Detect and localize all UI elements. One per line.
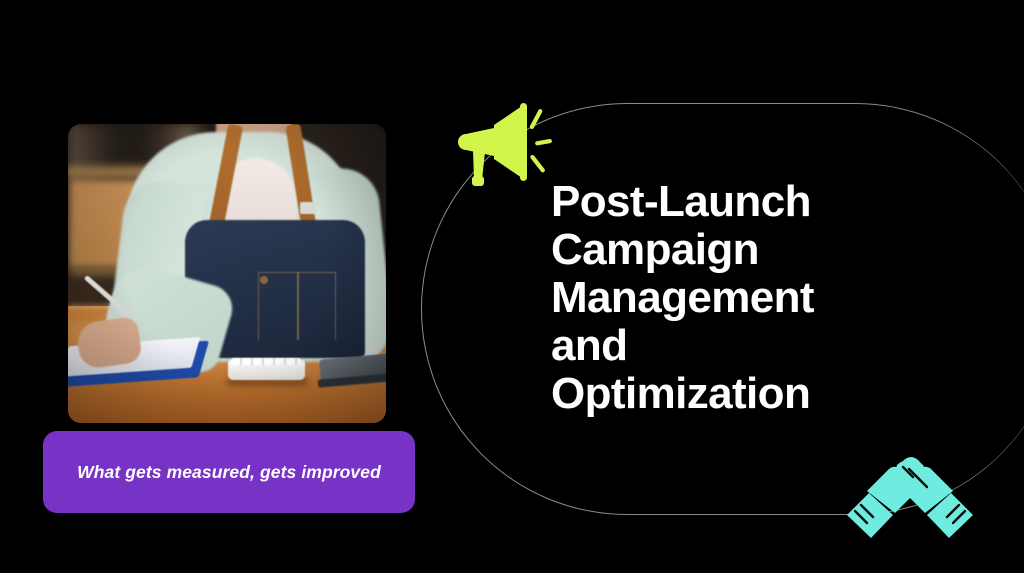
title-line-4: and xyxy=(551,322,951,370)
photo-card xyxy=(68,124,386,423)
photo-vignette xyxy=(68,124,386,423)
title-line-5: Optimization xyxy=(551,370,951,418)
slide-canvas: What gets measured, gets improved Post-L… xyxy=(0,0,1024,573)
title-line-3: Management xyxy=(551,274,951,322)
handshake-icon xyxy=(845,455,977,543)
caption-text: What gets measured, gets improved xyxy=(77,460,381,485)
page-title: Post-Launch Campaign Management and Opti… xyxy=(551,178,951,418)
caption-box: What gets measured, gets improved xyxy=(43,431,415,513)
title-line-2: Campaign xyxy=(551,226,951,274)
megaphone-icon xyxy=(456,98,566,190)
title-line-1: Post-Launch xyxy=(551,178,951,226)
